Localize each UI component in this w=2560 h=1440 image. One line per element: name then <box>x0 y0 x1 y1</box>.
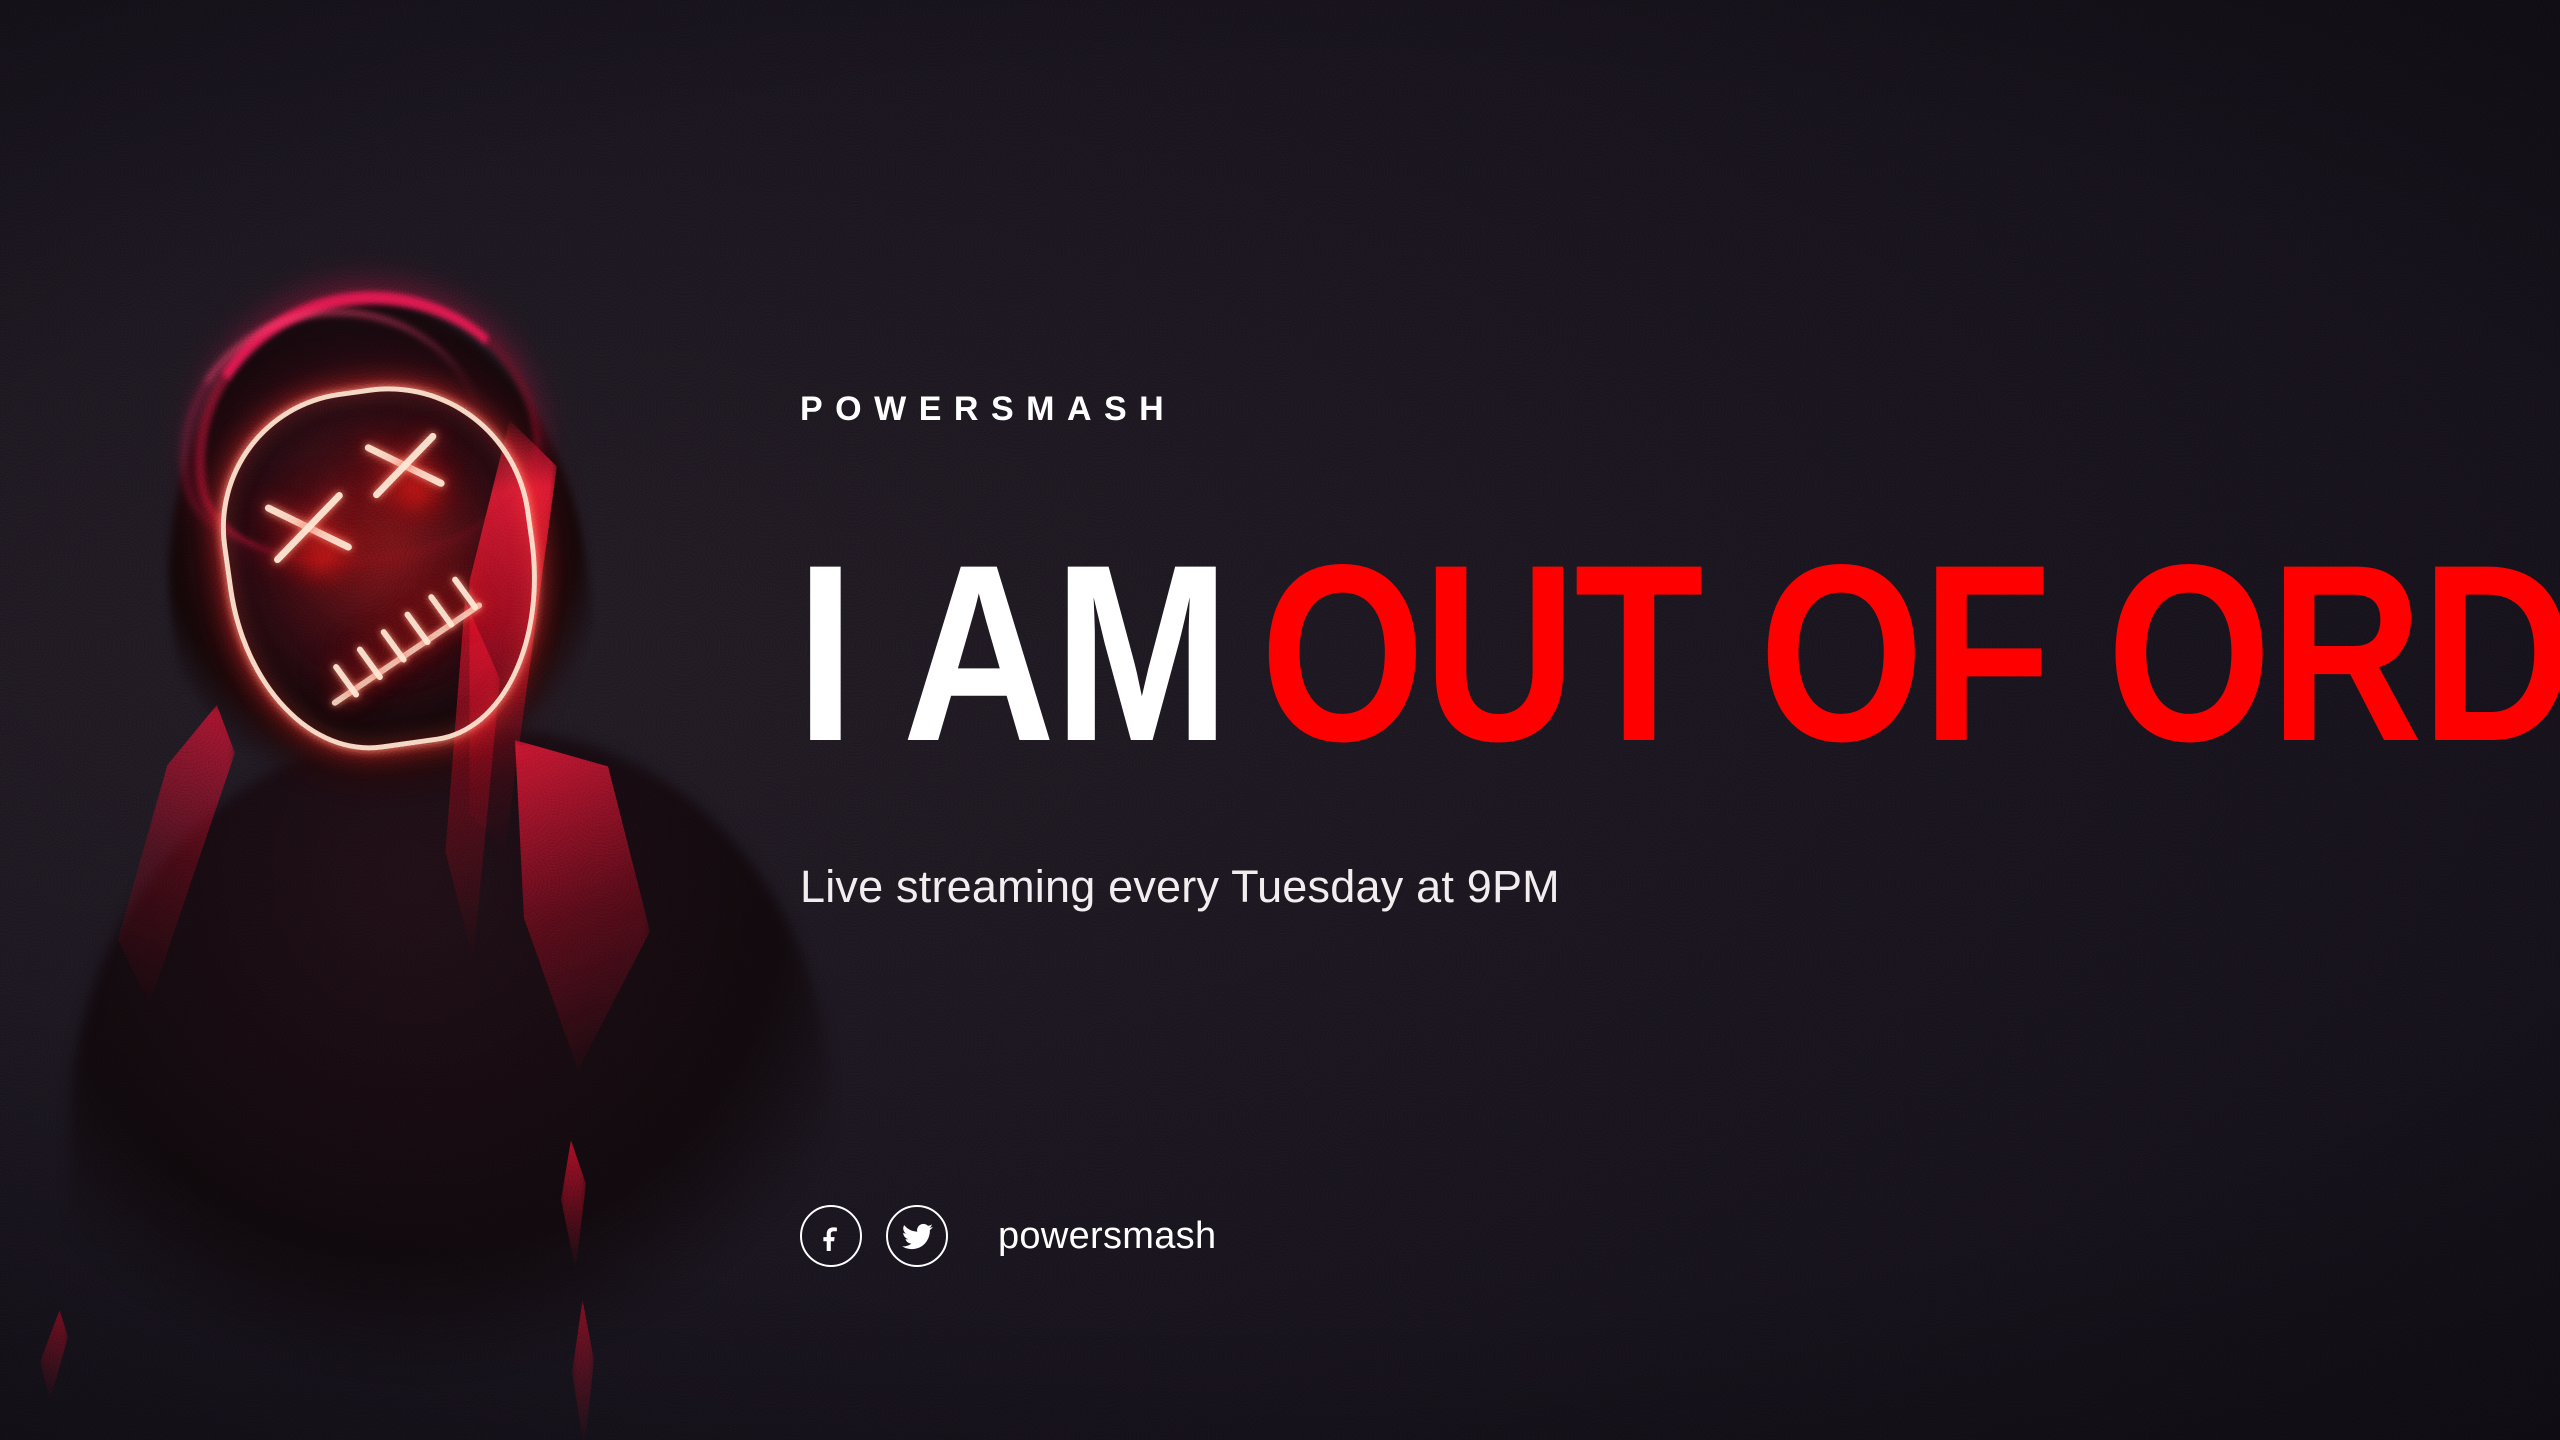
facebook-button[interactable] <box>800 1205 862 1267</box>
twitter-button[interactable] <box>886 1205 948 1267</box>
poster-canvas: POWERSMASH I AMOUT OF ORDER Live streami… <box>0 0 2560 1440</box>
social-row: powersmash <box>800 1205 1216 1267</box>
facebook-icon <box>816 1221 846 1251</box>
subtitle: Live streaming every Tuesday at 9PM <box>800 860 1560 914</box>
headline: I AMOUT OF ORDER <box>796 528 2560 780</box>
headline-white-part: I AM <box>796 513 1228 794</box>
brand-name: POWERSMASH <box>800 392 1176 426</box>
twitter-icon <box>902 1221 933 1252</box>
social-handle: powersmash <box>998 1217 1216 1255</box>
headline-red-part: OUT OF ORDER <box>1260 513 2560 794</box>
